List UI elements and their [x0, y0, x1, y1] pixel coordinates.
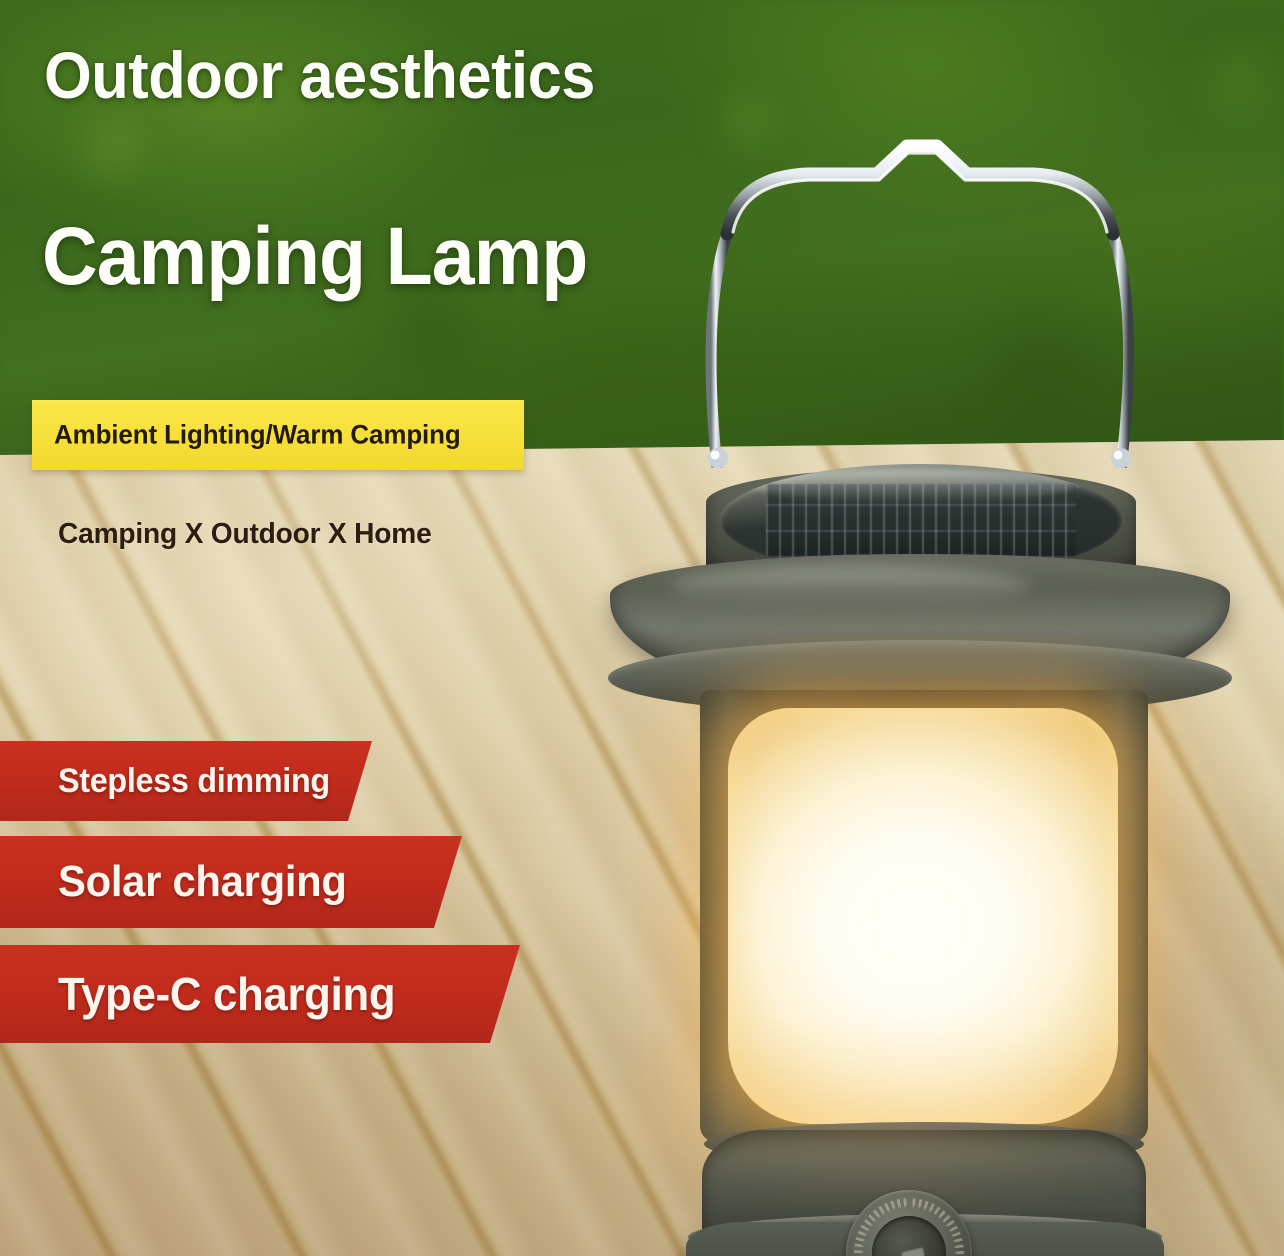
camping-lamp-product	[600, 130, 1240, 1230]
feature-banner-type-c-charging: Type-C charging	[0, 945, 520, 1043]
yellow-tagline-label: Ambient Lighting/Warm Camping	[54, 420, 461, 451]
feature-banner-label: Solar charging	[58, 857, 347, 907]
feature-banner-stepless-dimming: Stepless dimming	[0, 741, 372, 821]
dimmer-knob-marker	[901, 1247, 925, 1256]
feature-banner-label: Stepless dimming	[58, 762, 330, 801]
yellow-tagline-chip: Ambient Lighting/Warm Camping	[32, 400, 524, 470]
feature-banner-label: Type-C charging	[58, 967, 395, 1021]
wire-handle-icon	[655, 138, 1185, 468]
headline-secondary: Camping Lamp	[42, 216, 587, 298]
lamp-shade-highlight	[670, 566, 1030, 606]
headline-primary: Outdoor aesthetics	[44, 42, 595, 108]
sub-tagline: Camping X Outdoor X Home	[58, 518, 432, 551]
solar-panel-gloss	[748, 468, 1078, 502]
feature-banner-solar-charging: Solar charging	[0, 836, 462, 928]
light-diffuser	[728, 708, 1118, 1124]
product-poster: Outdoor aesthetics Camping Lamp Ambient …	[0, 0, 1284, 1256]
